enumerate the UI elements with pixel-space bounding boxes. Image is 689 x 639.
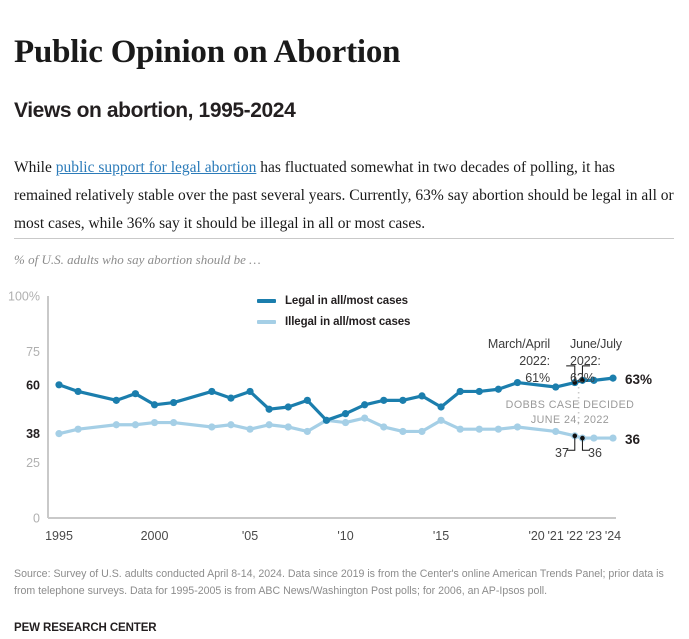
data-point-legal-20 <box>476 388 483 395</box>
data-point-illegal-15 <box>380 423 387 430</box>
legend-item-illegal[interactable]: Illegal in all/most cases <box>257 313 410 330</box>
dobbs-line1: DOBBS CASE DECIDED <box>480 398 660 413</box>
data-point-illegal-17 <box>418 428 425 435</box>
data-point-illegal-0 <box>55 430 62 437</box>
data-point-legal-2 <box>113 397 120 404</box>
data-point-legal-14 <box>361 401 368 408</box>
x-tick-1995: 1995 <box>45 529 73 543</box>
pew-chart-page: Public Opinion on Abortion Views on abor… <box>0 0 689 639</box>
data-point-illegal-7 <box>227 421 234 428</box>
data-point-legal-17 <box>418 392 425 399</box>
y-tick-100%: 100% <box>8 290 40 304</box>
data-point-legal-23 <box>552 383 559 390</box>
data-point-illegal-5 <box>170 419 177 426</box>
data-point-illegal-2 <box>113 421 120 428</box>
data-point-legal-9 <box>266 406 273 413</box>
y-tick-0: 0 <box>33 512 40 526</box>
june-july-line2: 2022: <box>570 353 656 370</box>
chart-legend: Legal in all/most cases Illegal in all/m… <box>257 292 410 334</box>
data-point-legal-1 <box>75 388 82 395</box>
x-tick-'10: '10 <box>337 529 353 543</box>
y-tick-38: 38 <box>26 427 40 441</box>
data-point-legal-0 <box>55 381 62 388</box>
data-point-illegal-16 <box>399 428 406 435</box>
chart-headline: Views on abortion, 1995-2024 <box>14 99 295 123</box>
point-label-36: 36 <box>588 446 602 460</box>
chart-subtitle: % of U.S. adults who say abortion should… <box>14 252 261 268</box>
data-point-legal-7 <box>227 395 234 402</box>
x-tick-'21: '21 <box>548 529 564 543</box>
x-tick-'20: '20 <box>528 529 544 543</box>
data-point-legal-10 <box>285 403 292 410</box>
x-tick-'24: '24 <box>605 529 621 543</box>
data-point-legal-15 <box>380 397 387 404</box>
march-april-line2: 2022: <box>452 353 550 370</box>
data-point-illegal-18 <box>437 417 444 424</box>
page-title: Public Opinion on Abortion <box>14 34 400 71</box>
point-label-37: 37 <box>555 446 569 460</box>
data-point-legal-3 <box>132 390 139 397</box>
data-point-legal-8 <box>246 388 253 395</box>
march-april-line1: March/April <box>452 336 550 353</box>
data-point-illegal-8 <box>246 426 253 433</box>
x-tick-2000: 2000 <box>141 529 169 543</box>
data-point-illegal-26 <box>590 434 597 441</box>
x-tick-'15: '15 <box>433 529 449 543</box>
y-tick-25: 25 <box>26 456 40 470</box>
intro-text-pre: While <box>14 159 56 176</box>
source-note: Source: Survey of U.S. adults conducted … <box>14 566 676 600</box>
data-point-illegal-4 <box>151 419 158 426</box>
pew-research-center-brand: PEW RESEARCH CENTER <box>14 622 157 634</box>
section-divider <box>14 238 674 239</box>
x-tick-'22: '22 <box>567 529 583 543</box>
data-point-legal-12 <box>323 417 330 424</box>
legend-label-illegal: Illegal in all/most cases <box>285 316 410 328</box>
x-tick-'05: '05 <box>242 529 258 543</box>
data-point-illegal-14 <box>361 415 368 422</box>
dobbs-line2: JUNE 24, 2022 <box>480 413 660 428</box>
legend-label-legal: Legal in all/most cases <box>285 295 408 307</box>
june-july-line1: June/July <box>570 336 656 353</box>
data-point-legal-19 <box>457 388 464 395</box>
data-point-illegal-11 <box>304 428 311 435</box>
data-point-illegal-13 <box>342 419 349 426</box>
legend-item-legal[interactable]: Legal in all/most cases <box>257 292 410 309</box>
data-point-illegal-27 <box>609 434 616 441</box>
data-point-legal-6 <box>208 388 215 395</box>
data-point-legal-4 <box>151 401 158 408</box>
data-point-legal-16 <box>399 397 406 404</box>
data-point-illegal-19 <box>457 426 464 433</box>
march-april-value: 61% <box>452 370 550 387</box>
x-tick-'23: '23 <box>586 529 602 543</box>
data-point-illegal-1 <box>75 426 82 433</box>
data-point-illegal-9 <box>266 421 273 428</box>
end-label-illegal: 36 <box>625 432 640 447</box>
data-point-illegal-6 <box>208 423 215 430</box>
legend-swatch-legal <box>257 299 276 303</box>
annotation-dobbs: DOBBS CASE DECIDED JUNE 24, 2022 <box>480 398 660 428</box>
intro-paragraph: While public support for legal abortion … <box>14 154 674 238</box>
data-point-legal-18 <box>437 403 444 410</box>
legal-abortion-link[interactable]: public support for legal abortion <box>56 159 257 176</box>
y-tick-75: 75 <box>26 345 40 359</box>
end-label-legal: 63% <box>625 372 652 387</box>
data-point-legal-11 <box>304 397 311 404</box>
annotation-march-april-2022: March/April 2022: 61% <box>452 336 550 387</box>
data-point-legal-13 <box>342 410 349 417</box>
data-point-illegal-23 <box>552 428 559 435</box>
data-point-illegal-10 <box>285 423 292 430</box>
data-point-legal-5 <box>170 399 177 406</box>
data-point-illegal-3 <box>132 421 139 428</box>
legend-swatch-illegal <box>257 320 276 324</box>
y-tick-60: 60 <box>26 378 40 392</box>
